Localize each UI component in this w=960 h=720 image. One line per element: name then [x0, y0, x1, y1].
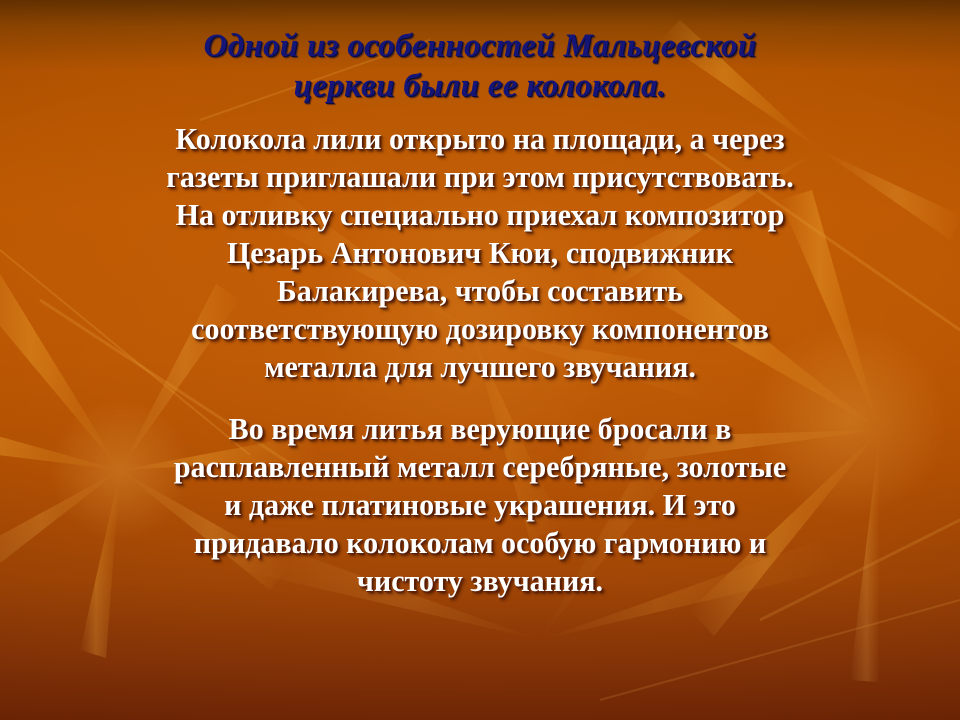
- paragraph-1-line-7: металла для лучшего звучания.: [25, 348, 935, 386]
- slide-canvas: Одной из особенностей Мальцевской церкви…: [0, 0, 960, 720]
- paragraph-2: Во время литья верующие бросали в распла…: [18, 410, 942, 600]
- paragraph-2-line-5: чистоту звучания.: [25, 562, 935, 600]
- paragraph-2-line-2: расплавленный металл серебряные, золотые: [25, 448, 935, 486]
- paragraph-1-line-1: Колокола лили открыто на площади, а чере…: [25, 120, 935, 158]
- paragraph-1-line-5: Балакирева, чтобы составить: [25, 272, 935, 310]
- paragraph-2-line-3: и даже платиновые украшения. И это: [25, 486, 935, 524]
- slide-title-line-1: Одной из особенностей Мальцевской: [30, 26, 930, 66]
- paragraph-2-line-1: Во время литья верующие бросали в: [25, 410, 935, 448]
- slide-title: Одной из особенностей Мальцевской церкви…: [30, 26, 930, 106]
- paragraph-2-line-4: придавало колоколам особую гармонию и: [25, 524, 935, 562]
- paragraph-1-line-2: газеты приглашали при этом присутствоват…: [25, 158, 935, 196]
- slide-content: Одной из особенностей Мальцевской церкви…: [0, 0, 960, 720]
- paragraph-1-line-3: На отливку специально приехал композитор: [25, 196, 935, 234]
- paragraph-1: Колокола лили открыто на площади, а чере…: [18, 120, 942, 386]
- paragraph-1-line-6: соответствующую дозировку компонентов: [25, 310, 935, 348]
- slide-title-line-2: церкви были ее колокола.: [30, 66, 930, 106]
- slide-body: Колокола лили открыто на площади, а чере…: [18, 120, 942, 600]
- paragraph-1-line-4: Цезарь Антонович Кюи, сподвижник: [25, 234, 935, 272]
